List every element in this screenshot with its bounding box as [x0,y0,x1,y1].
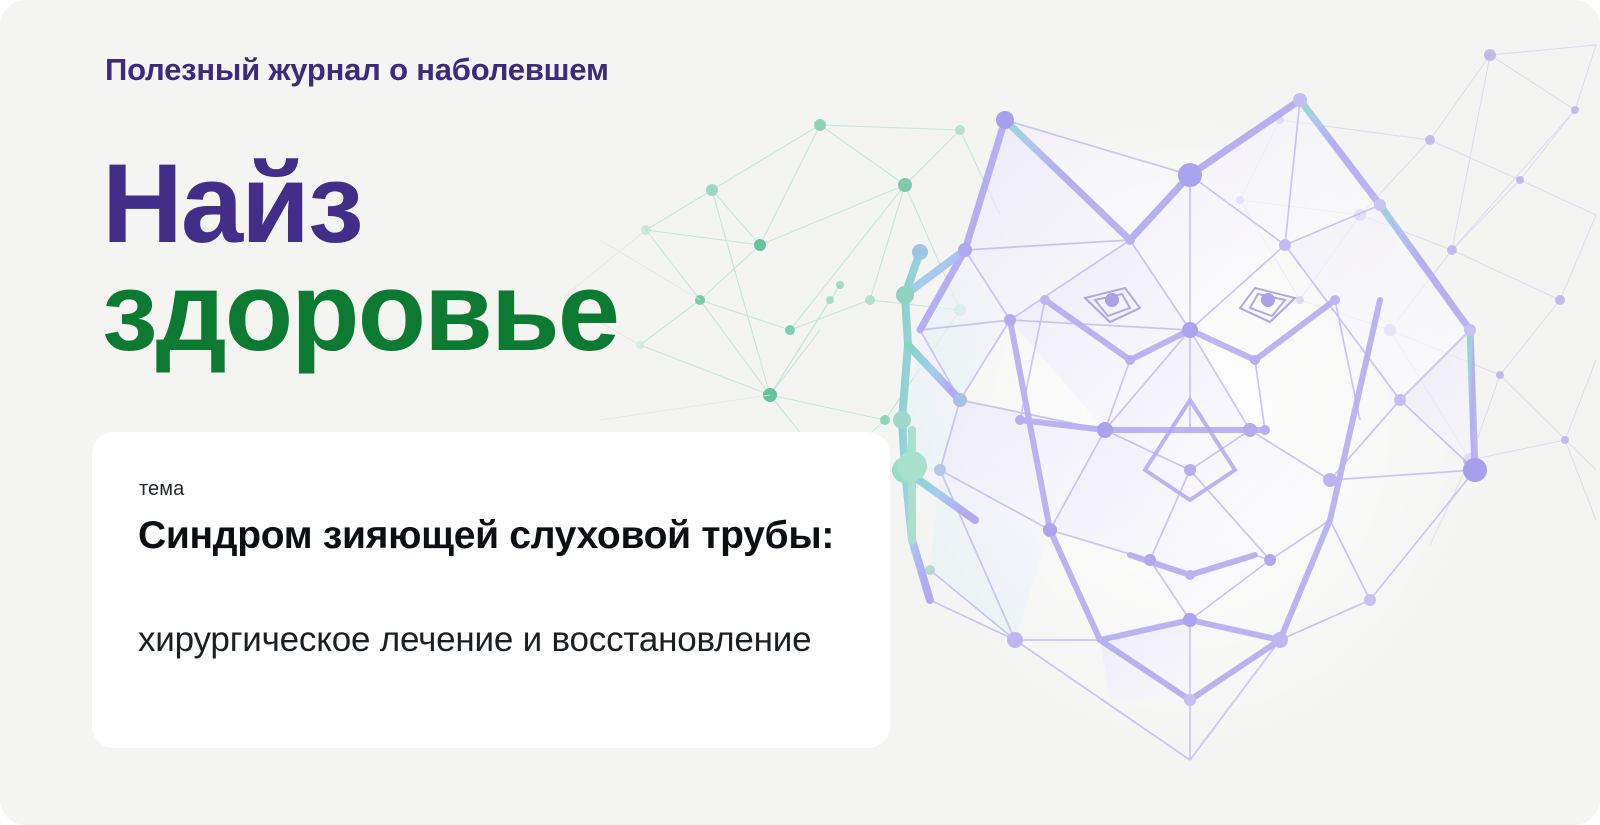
topic-kicker-label: тема [139,478,184,501]
text-column: Полезный журнал о наболевшем Найз здоров… [0,0,960,825]
topic-subtitle: хирургическое лечение и восстановление [138,618,858,663]
brand-tagline: Полезный журнал о наболевшем [105,52,609,88]
brand-logo-line-1: Найз [102,150,618,258]
lion-eye-right [1240,288,1295,322]
promo-banner: Полезный журнал о наболевшем Найз здоров… [0,0,1600,825]
brand-logo: Найз здоровье [102,150,618,365]
topic-title: Синдром зияющей слуховой трубы: [138,512,838,560]
lion-vertex-nodes [892,93,1487,706]
network-nodes-top-right [1236,49,1579,467]
topic-card: тема Синдром зияющей слуховой трубы: хир… [92,432,890,748]
lion-eye-left [1085,288,1140,322]
network-cluster-top-right [1240,45,1596,545]
lion-eye-left-pupil [1105,293,1119,307]
lion-eye-right-pupil [1261,293,1275,307]
brand-logo-line-2: здоровье [102,258,618,366]
lion-head-illustration [892,93,1487,760]
lion-nose [1145,400,1235,500]
